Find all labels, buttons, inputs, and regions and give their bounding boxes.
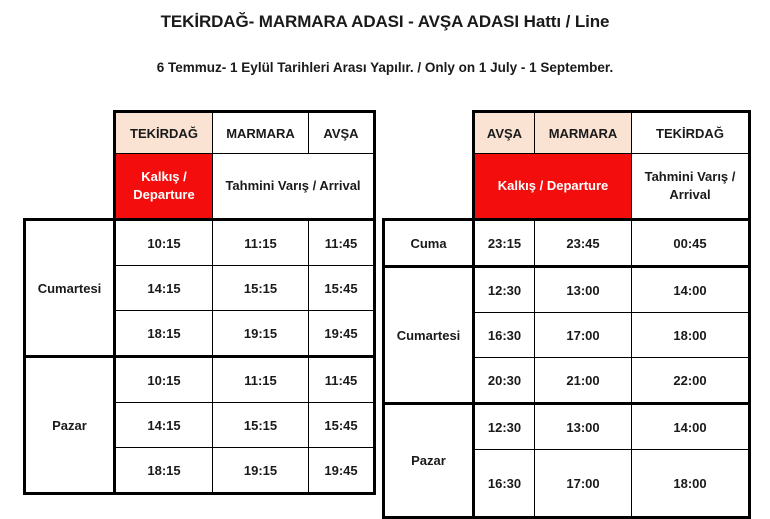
return-time-cell: 18:00 xyxy=(632,313,750,358)
outbound-time-cell: 15:45 xyxy=(309,266,375,311)
outbound-schedule-table: TEKİRDAĞ MARMARA AVŞA Kalkış / Departure… xyxy=(23,110,376,495)
return-time-cell: 13:00 xyxy=(535,404,632,450)
return-day-label-0: Cuma xyxy=(384,220,474,267)
outbound-time-cell: 19:45 xyxy=(309,448,375,494)
outbound-time-cell: 14:15 xyxy=(115,403,213,448)
outbound-port-header-0: TEKİRDAĞ xyxy=(115,112,213,154)
return-departure-header: Kalkış / Departure xyxy=(474,154,632,220)
table-row: Cumartesi 10:15 11:15 11:45 xyxy=(25,220,375,266)
return-time-cell: 21:00 xyxy=(535,358,632,404)
table-row: Pazar 12:30 13:00 14:00 xyxy=(384,404,750,450)
outbound-time-cell: 11:15 xyxy=(213,220,309,266)
outbound-time-cell: 18:15 xyxy=(115,311,213,357)
outbound-time-cell: 11:45 xyxy=(309,220,375,266)
outbound-header-type-row: Kalkış / Departure Tahmini Varış / Arriv… xyxy=(25,154,375,220)
outbound-day-label-1: Pazar xyxy=(25,357,115,494)
outbound-time-cell: 10:15 xyxy=(115,220,213,266)
return-time-cell: 12:30 xyxy=(474,404,535,450)
outbound-time-cell: 15:45 xyxy=(309,403,375,448)
table-row: Cuma 23:15 23:45 00:45 xyxy=(384,220,750,267)
table-row: Cumartesi 12:30 13:00 14:00 xyxy=(384,267,750,313)
return-arrival-header: Tahmini Varış / Arrival xyxy=(632,154,750,220)
outbound-time-cell: 19:15 xyxy=(213,448,309,494)
return-port-header-1: MARMARA xyxy=(535,112,632,154)
return-time-cell: 17:00 xyxy=(535,450,632,518)
table-row: Pazar 10:15 11:15 11:45 xyxy=(25,357,375,403)
return-time-cell: 00:45 xyxy=(632,220,750,267)
return-port-header-0: AVŞA xyxy=(474,112,535,154)
return-time-cell: 20:30 xyxy=(474,358,535,404)
return-day-label-2: Pazar xyxy=(384,404,474,518)
return-time-cell: 14:00 xyxy=(632,267,750,313)
outbound-time-cell: 11:45 xyxy=(309,357,375,403)
outbound-day-label-0: Cumartesi xyxy=(25,220,115,357)
outbound-corner-spacer-2 xyxy=(25,154,115,220)
return-header-type-row: Kalkış / Departure Tahmini Varış / Arriv… xyxy=(384,154,750,220)
return-corner-spacer-2 xyxy=(384,154,474,220)
outbound-time-cell: 11:15 xyxy=(213,357,309,403)
return-schedule-table: AVŞA MARMARA TEKİRDAĞ Kalkış / Departure… xyxy=(382,110,751,519)
outbound-port-header-1: MARMARA xyxy=(213,112,309,154)
return-time-cell: 22:00 xyxy=(632,358,750,404)
outbound-port-header-2: AVŞA xyxy=(309,112,375,154)
return-time-cell: 17:00 xyxy=(535,313,632,358)
return-time-cell: 16:30 xyxy=(474,313,535,358)
outbound-arrival-header: Tahmini Varış / Arrival xyxy=(213,154,375,220)
return-time-cell: 13:00 xyxy=(535,267,632,313)
outbound-departure-header: Kalkış / Departure xyxy=(115,154,213,220)
return-header-ports-row: AVŞA MARMARA TEKİRDAĞ xyxy=(384,112,750,154)
return-time-cell: 23:45 xyxy=(535,220,632,267)
return-time-cell: 16:30 xyxy=(474,450,535,518)
return-time-cell: 14:00 xyxy=(632,404,750,450)
outbound-corner-spacer xyxy=(25,112,115,154)
page-subtitle: 6 Temmuz- 1 Eylül Tarihleri Arası Yapılı… xyxy=(0,60,770,75)
outbound-time-cell: 15:15 xyxy=(213,266,309,311)
return-time-cell: 18:00 xyxy=(632,450,750,518)
return-time-cell: 12:30 xyxy=(474,267,535,313)
outbound-time-cell: 10:15 xyxy=(115,357,213,403)
outbound-header-ports-row: TEKİRDAĞ MARMARA AVŞA xyxy=(25,112,375,154)
outbound-time-cell: 18:15 xyxy=(115,448,213,494)
return-port-header-2: TEKİRDAĞ xyxy=(632,112,750,154)
outbound-time-cell: 14:15 xyxy=(115,266,213,311)
outbound-time-cell: 15:15 xyxy=(213,403,309,448)
outbound-time-cell: 19:15 xyxy=(213,311,309,357)
return-time-cell: 23:15 xyxy=(474,220,535,267)
return-day-label-1: Cumartesi xyxy=(384,267,474,404)
page-title: TEKİRDAĞ- MARMARA ADASI - AVŞA ADASI Hat… xyxy=(0,12,770,32)
return-corner-spacer xyxy=(384,112,474,154)
outbound-time-cell: 19:45 xyxy=(309,311,375,357)
